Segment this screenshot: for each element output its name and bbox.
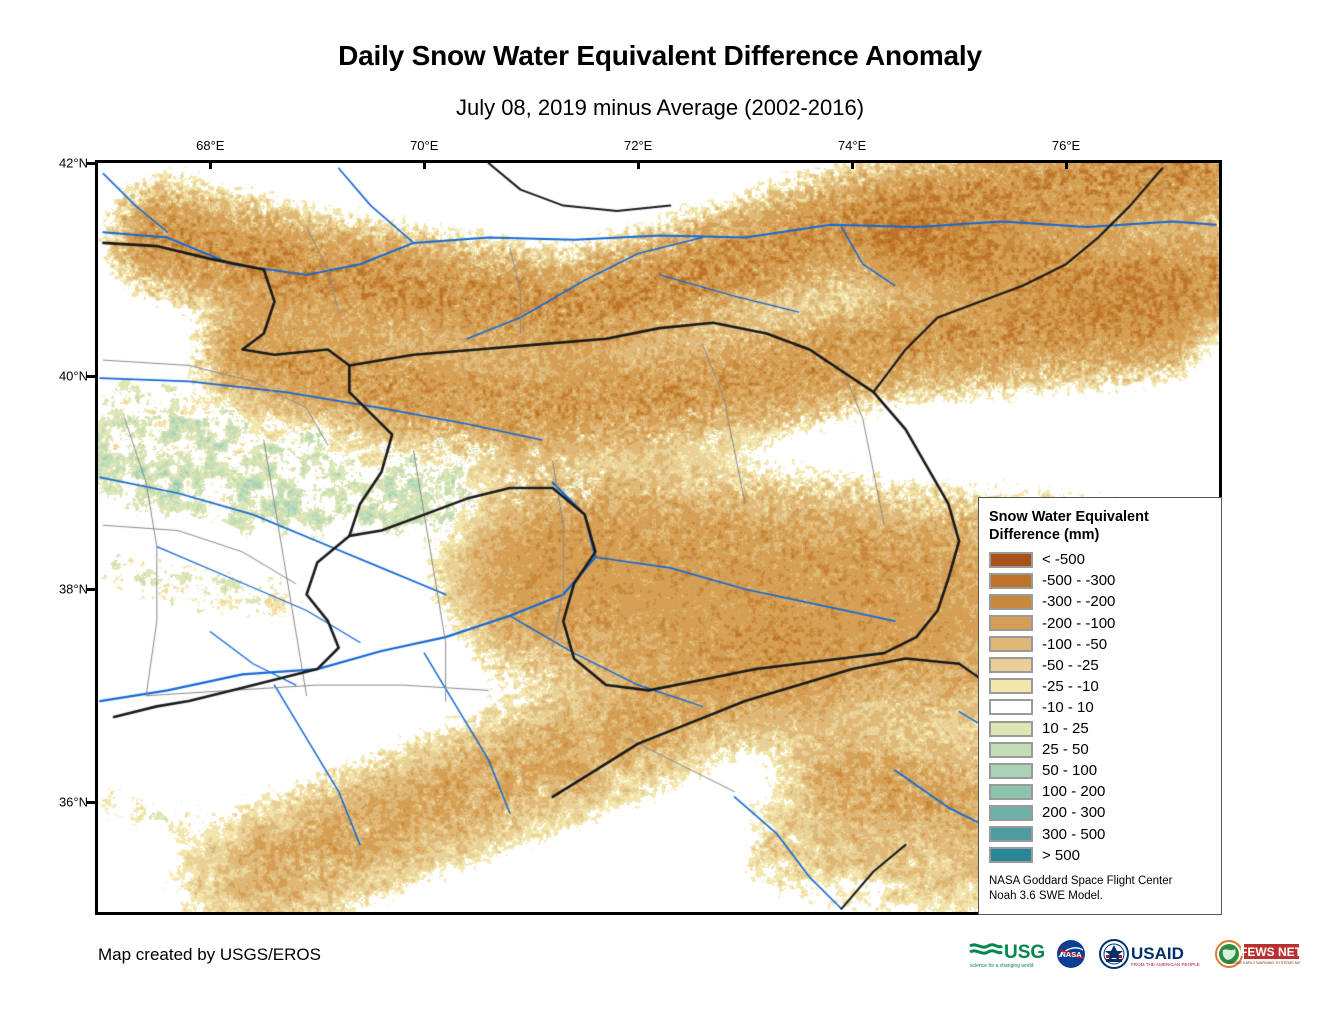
- legend-label: 300 - 500: [1042, 826, 1105, 843]
- legend-swatch: [989, 678, 1033, 694]
- legend-swatch: [989, 552, 1033, 568]
- longitude-label: 76°E: [1052, 138, 1080, 153]
- legend-row: -50 - -25: [989, 655, 1221, 676]
- svg-text:science for a changing world: science for a changing world: [970, 963, 1034, 969]
- longitude-tick: [637, 160, 640, 169]
- usaid-logo: USAID FROM THE AMERICAN PEOPLE: [1098, 937, 1206, 971]
- legend-swatch: [989, 826, 1033, 842]
- fewsnet-logo: FEWS NET FAMINE EARLY WARNING SYSTEMS NE…: [1215, 937, 1301, 971]
- longitude-tick: [1065, 160, 1068, 169]
- legend-row: -100 - -50: [989, 634, 1221, 655]
- legend-note-line2: Noah 3.6 SWE Model.: [989, 890, 1103, 902]
- legend-label: -10 - 10: [1042, 699, 1094, 716]
- legend-row: -10 - 10: [989, 697, 1221, 718]
- legend-label: -100 - -50: [1042, 636, 1107, 653]
- map-legend: Snow Water Equivalent Difference (mm) < …: [978, 497, 1222, 915]
- legend-swatch: [989, 636, 1033, 652]
- longitude-tick: [423, 160, 426, 169]
- legend-label: -300 - -200: [1042, 593, 1115, 610]
- page-subtitle: July 08, 2019 minus Average (2002-2016): [0, 95, 1320, 121]
- legend-swatch: [989, 573, 1033, 589]
- legend-label: 100 - 200: [1042, 783, 1105, 800]
- legend-row: 300 - 500: [989, 823, 1221, 844]
- latitude-label: 36°N: [58, 795, 88, 810]
- longitude-label: 68°E: [196, 138, 224, 153]
- legend-attribution: NASA Goddard Space Flight Center Noah 3.…: [989, 874, 1204, 905]
- legend-label: 50 - 100: [1042, 762, 1097, 779]
- legend-title-line2: Difference (mm): [989, 527, 1099, 543]
- svg-text:USAID: USAID: [1131, 944, 1184, 963]
- legend-label: 10 - 25: [1042, 720, 1089, 737]
- legend-row: > 500: [989, 845, 1221, 866]
- page-title: Daily Snow Water Equivalent Difference A…: [0, 40, 1320, 72]
- legend-row: < -500: [989, 549, 1221, 570]
- svg-text:FEWS NET: FEWS NET: [1240, 945, 1301, 959]
- svg-text:FROM THE AMERICAN PEOPLE: FROM THE AMERICAN PEOPLE: [1131, 962, 1200, 967]
- longitude-tick: [209, 160, 212, 169]
- usgs-logo: USGS science for a changing world: [968, 937, 1044, 971]
- legend-label: > 500: [1042, 847, 1080, 864]
- legend-row: 200 - 300: [989, 802, 1221, 823]
- legend-swatch: [989, 657, 1033, 673]
- latitude-label: 38°N: [58, 582, 88, 597]
- legend-swatch: [989, 805, 1033, 821]
- svg-text:FAMINE EARLY WARNING SYSTEMS N: FAMINE EARLY WARNING SYSTEMS NETWORK: [1228, 961, 1301, 965]
- legend-label: < -500: [1042, 551, 1085, 568]
- legend-title-line1: Snow Water Equivalent: [989, 509, 1149, 525]
- legend-row: -300 - -200: [989, 591, 1221, 612]
- longitude-label: 74°E: [838, 138, 866, 153]
- legend-swatch: [989, 721, 1033, 737]
- legend-swatch: [989, 784, 1033, 800]
- legend-row: 50 - 100: [989, 760, 1221, 781]
- legend-label: 25 - 50: [1042, 741, 1089, 758]
- legend-swatch: [989, 699, 1033, 715]
- legend-swatch: [989, 763, 1033, 779]
- legend-row: 25 - 50: [989, 739, 1221, 760]
- legend-row: 100 - 200: [989, 781, 1221, 802]
- svg-text:USGS: USGS: [1004, 942, 1044, 963]
- legend-swatch: [989, 742, 1033, 758]
- nasa-logo: NASA: [1053, 937, 1089, 971]
- legend-row: -500 - -300: [989, 570, 1221, 591]
- legend-label: -50 - -25: [1042, 657, 1099, 674]
- longitude-label: 72°E: [624, 138, 652, 153]
- longitude-tick: [851, 160, 854, 169]
- legend-class-list: < -500-500 - -300-300 - -200-200 - -100-…: [989, 549, 1221, 865]
- latitude-label: 42°N: [58, 156, 88, 171]
- legend-label: -25 - -10: [1042, 678, 1099, 695]
- latitude-label: 40°N: [58, 369, 88, 384]
- legend-swatch: [989, 615, 1033, 631]
- legend-label: 200 - 300: [1042, 804, 1105, 821]
- legend-note-line1: NASA Goddard Space Flight Center: [989, 875, 1172, 887]
- legend-title: Snow Water Equivalent Difference (mm): [989, 508, 1199, 544]
- legend-swatch: [989, 594, 1033, 610]
- legend-row: -25 - -10: [989, 676, 1221, 697]
- longitude-label: 70°E: [410, 138, 438, 153]
- agency-logo-strip: USGS science for a changing world NASA U…: [968, 934, 1301, 974]
- legend-swatch: [989, 847, 1033, 863]
- map-credit: Map created by USGS/EROS: [98, 945, 321, 965]
- legend-label: -500 - -300: [1042, 572, 1115, 589]
- legend-row: -200 - -100: [989, 613, 1221, 634]
- svg-text:NASA: NASA: [1060, 950, 1082, 959]
- legend-label: -200 - -100: [1042, 615, 1115, 632]
- legend-row: 10 - 25: [989, 718, 1221, 739]
